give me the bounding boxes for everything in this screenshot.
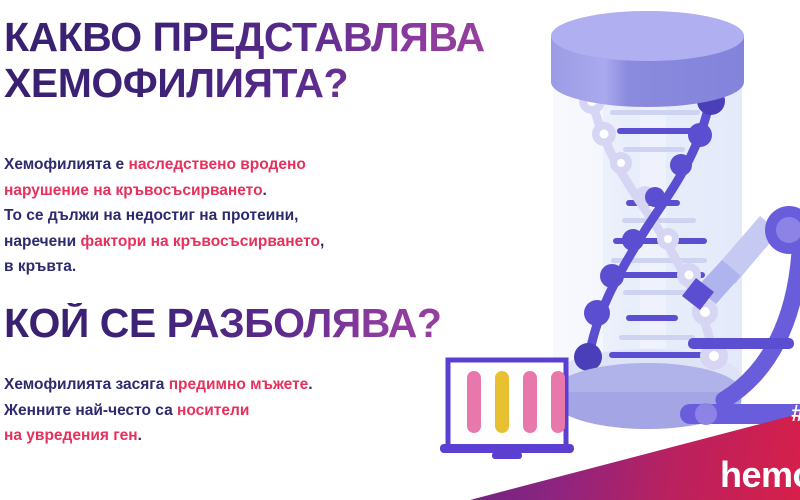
text-run: . xyxy=(308,376,312,393)
paragraph-line: в кръвта. xyxy=(4,254,324,280)
paragraph-line: на увредения ген. xyxy=(4,423,313,449)
paragraph-who-gets-sick: Хемофилията засяга предимно мъжете. Женн… xyxy=(4,372,313,449)
banner-hashtag-symbol: # xyxy=(791,400,800,427)
paragraph-line: То се дължи на недостиг на протеини, xyxy=(4,203,324,229)
jar-cap xyxy=(551,11,744,107)
text-run: наречени xyxy=(4,233,81,250)
page-title-primary: КАКВО ПРЕДСТАВЛЯВА ХЕМОФИЛИЯТА? xyxy=(4,17,485,105)
text-run: То се дължи на недостиг на протеини, xyxy=(4,207,298,224)
paragraph-what-is-hemophilia: Хемофилията е наследствено вродено наруш… xyxy=(4,152,324,280)
page-title-primary-line2: ХЕМОФИЛИЯТА? xyxy=(4,63,485,105)
poster-canvas: КАКВО ПРЕДСТАВЛЯВА ХЕМОФИЛИЯТА? Хемофили… xyxy=(0,0,800,500)
paragraph-line: Женните най-често са носители xyxy=(4,398,313,424)
text-run: Хемофилията засяга xyxy=(4,376,169,393)
page-title-secondary-line1: КОЙ СЕ РАЗБОЛЯВА? xyxy=(4,300,441,346)
text-run: Хемофилията е xyxy=(4,156,128,173)
page-title-primary-line1: КАКВО ПРЕДСТАВЛЯВА xyxy=(4,14,485,60)
text-run-highlight: фактори на кръвосъсирването xyxy=(81,233,320,250)
text-run-highlight: нарушение на кръвосъсирването xyxy=(4,182,263,199)
text-run: Женните най-често са xyxy=(4,402,177,419)
text-run: , xyxy=(320,233,324,250)
text-run-highlight: предимно мъжете xyxy=(169,376,309,393)
paragraph-line: Хемофилията е наследствено вродено xyxy=(4,152,324,178)
paragraph-line: наречени фактори на кръвосъсирването, xyxy=(4,229,324,255)
text-run: . xyxy=(263,182,267,199)
text-run: в кръвта. xyxy=(4,258,76,275)
bottom-right-banner: # hemo xyxy=(470,380,800,500)
page-title-secondary: КОЙ СЕ РАЗБОЛЯВА? xyxy=(4,303,441,345)
text-run: . xyxy=(138,427,142,444)
text-column: КАКВО ПРЕДСТАВЛЯВА ХЕМОФИЛИЯТА? Хемофили… xyxy=(0,0,540,500)
text-run-highlight: наследствено вродено xyxy=(128,156,305,173)
text-run-highlight: носители xyxy=(177,402,249,419)
paragraph-line: нарушение на кръвосъсирването. xyxy=(4,178,324,204)
text-run-highlight: на увредения ген xyxy=(4,427,138,444)
paragraph-line: Хемофилията засяга предимно мъжете. xyxy=(4,372,313,398)
banner-word: hemo xyxy=(720,454,800,496)
